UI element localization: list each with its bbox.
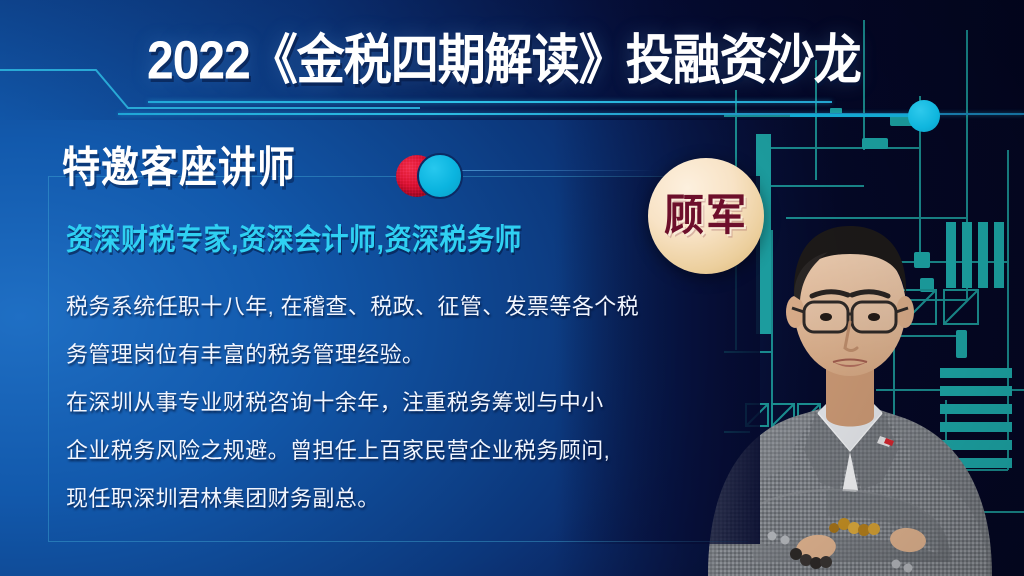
bio-line: 在深圳从事专业财税咨询十余年，注重税务筹划与中小 <box>66 379 746 427</box>
cyan-circle-decoration-icon <box>417 153 463 199</box>
bio-line: 企业税务风险之规避。曾担任上百家民营企业税务顾问, <box>66 427 746 475</box>
header-rule-upper <box>148 101 832 103</box>
bio-line: 务管理岗位有丰富的税务管理经验。 <box>66 331 746 379</box>
speaker-biography: 税务系统任职十八年, 在稽查、税政、征管、发票等各个税 务管理岗位有丰富的税务管… <box>66 283 746 523</box>
node-connector-line <box>790 114 912 117</box>
page-title: 2022《金税四期解读》投融资沙龙 <box>147 27 861 96</box>
speaker-name-badge: 顾军 <box>648 158 764 274</box>
lecturer-heading-underline <box>455 170 655 171</box>
speaker-credentials-subtitle: 资深财税专家,资深会计师,资深税务师 <box>66 221 522 258</box>
bio-line: 现任职深圳君林集团财务副总。 <box>66 475 746 523</box>
poster-canvas: 2022《金税四期解读》投融资沙龙 特邀客座讲师 资深财税专家,资深会计师,资深… <box>0 0 1024 576</box>
lecturer-heading: 特邀客座讲师 <box>62 143 296 195</box>
bio-line: 税务系统任职十八年, 在稽查、税政、征管、发票等各个税 <box>66 283 746 331</box>
speaker-name: 顾军 <box>664 191 748 241</box>
cyan-node-dot-icon <box>908 100 940 132</box>
